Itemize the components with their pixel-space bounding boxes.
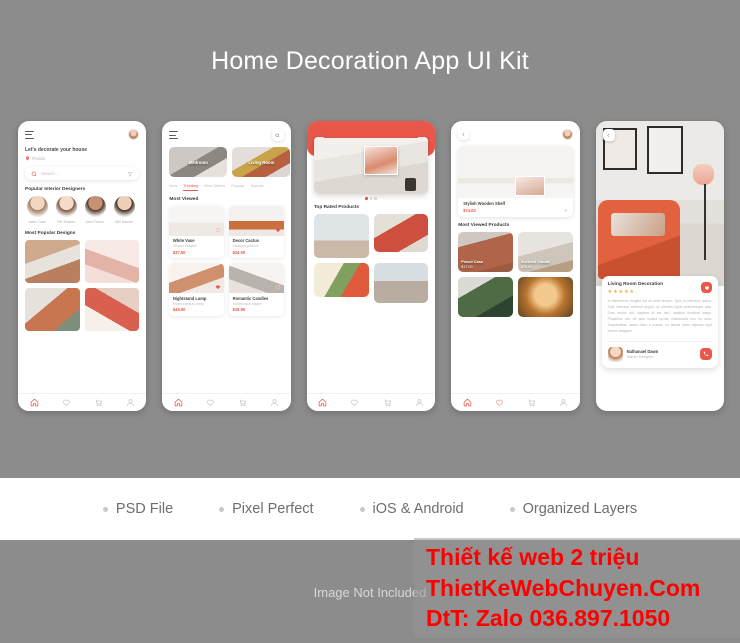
product-price: $29.90 [521,265,532,269]
heart-icon[interactable] [215,227,221,233]
product-card[interactable]: Romantic Candles Scelerisque sapien $18.… [229,263,284,316]
product-price: $18.90 [233,307,281,312]
cart-icon[interactable] [94,398,103,407]
cart-icon[interactable] [383,398,392,407]
screen1-topbar [18,121,146,140]
feature-strip: PSD File Pixel Perfect iOS & Android Org… [0,478,740,540]
person-icon[interactable] [559,398,568,407]
bullet-icon [510,507,515,512]
bullet-icon [219,507,224,512]
designer-avatar [114,196,135,217]
product-name: Romantic Candles [233,296,281,301]
product-card[interactable]: Decor Cactus Vivamus pretium $24.00 [229,206,284,259]
rating-stars: ★★★★★ [608,289,663,295]
product-desc: Scelerisque sapien [233,302,281,306]
feature-label: PSD File [116,501,173,517]
feature-label: Organized Layers [523,501,637,517]
bottom-nav[interactable] [162,393,290,411]
page-title: Home Decoration App UI Kit [0,47,740,76]
heart-icon[interactable] [495,398,504,407]
heart-icon[interactable] [206,398,215,407]
feature-label: iOS & Android [373,501,464,517]
location-row[interactable]: Florida [18,153,146,161]
call-button[interactable] [700,348,712,360]
product-image [229,206,284,236]
product-desc: Vivamus pretium [233,244,281,248]
feature-label: Pixel Perfect [232,501,313,517]
featured-product-card[interactable]: Stylish Wooden Shelf $74.00 [458,146,572,217]
back-arrow-icon [461,132,466,137]
search-placeholder: Search... [41,171,58,176]
tab-trending[interactable]: Trending [183,183,198,191]
user-avatar[interactable] [562,129,573,140]
product-price: $45.00 [173,307,221,312]
popular-designs-grid [18,236,146,331]
watermark-line-3: DtT: Zalo 036.897.1050 [426,603,732,634]
product-tile[interactable] [518,277,573,317]
designers-section-title: Popular Interior Designers [18,180,146,192]
product-price: $17.00 [461,265,472,269]
feature-item: iOS & Android [360,501,464,517]
back-button[interactable] [458,129,469,140]
product-name: Nightstand Lamp [173,296,221,301]
like-button[interactable] [701,282,712,293]
feature-item: Organized Layers [510,501,637,517]
screen2-topbar [162,121,290,141]
back-button[interactable] [603,129,615,141]
category-label: Living Room [232,147,290,177]
home-icon[interactable] [174,398,183,407]
filter-icon[interactable] [127,171,133,177]
product-name: Pencil Case [461,259,483,264]
arrow-right-icon[interactable] [563,208,568,213]
product-tile[interactable]: Pencil Case $17.00 [458,232,513,272]
detail-description: In elementum fringilla est sit amet temp… [608,299,712,335]
product-tile[interactable] [314,263,369,297]
product-tile-label: Scented Candle $29.90 [521,259,550,269]
screen-home-feed[interactable]: Home Top Rated Products [307,121,435,411]
designer-avatar [608,347,623,362]
designer-avatar [56,196,77,217]
category-card[interactable]: Bedroom [169,147,227,177]
cart-icon[interactable] [238,398,247,407]
design-card[interactable] [85,240,140,283]
product-tile[interactable]: Scented Candle $29.90 [518,232,573,272]
screen-detail-view[interactable]: Living Room Decoration ★★★★★ In elementu… [596,121,724,411]
back-arrow-icon [606,133,611,138]
product-card[interactable]: White Vase Aliquet sodales $37.50 [169,206,224,259]
most-viewed-title: Most Viewed [162,191,290,202]
heart-icon[interactable] [350,398,359,407]
ui-kit-canvas: Home Decoration App UI Kit Let's decorat… [0,0,740,643]
detail-title: Living Room Decoration [608,282,663,287]
heart-icon[interactable] [215,284,221,290]
person-icon[interactable] [126,398,135,407]
hamburger-icon[interactable] [169,131,178,139]
designer-item[interactable]: Justin Case [25,196,49,224]
popular-section-title: Most Popular Designs [18,224,146,236]
designer-avatar [85,196,106,217]
screen-category-browse[interactable]: Bedroom Living Room New Trending Best Se… [162,121,290,411]
heart-icon[interactable] [62,398,71,407]
tab-new[interactable]: New [169,183,177,191]
user-avatar[interactable] [128,129,139,140]
phone-icon [703,351,709,357]
designer-row[interactable]: Nathanael Dawn Interior Designer [608,341,712,362]
design-card[interactable] [25,288,80,331]
person-icon[interactable] [270,398,279,407]
person-icon[interactable] [415,398,424,407]
search-icon [275,133,280,138]
search-button[interactable] [272,129,284,141]
category-carousel[interactable]: Bedroom Living Room [162,141,290,177]
product-price: $37.50 [173,250,221,255]
heart-icon [704,285,710,291]
location-label: Florida [32,156,45,161]
watermark-overlay: Thiết kế web 2 triệu ThietKeWebChuyen.Co… [414,538,740,638]
product-image [169,206,224,236]
product-tile[interactable] [314,214,369,258]
watermark-line-2: ThietKeWebChuyen.Com [426,573,732,604]
product-tile-label: Pencil Case $17.00 [461,259,483,269]
featured-product-image [458,146,572,198]
top-rated-grid [307,210,435,303]
cart-icon[interactable] [527,398,536,407]
designer-item[interactable]: Alan Fresco [83,196,107,224]
product-image [229,263,284,293]
watermark-line-1: Thiết kế web 2 triệu [426,542,732,573]
product-desc: Etiam egestas lamp [173,302,221,306]
detail-info-card: Living Room Decoration ★★★★★ In elementu… [602,276,718,368]
category-card[interactable]: Living Room [232,147,290,177]
home-icon[interactable] [30,398,39,407]
designers-list: Justin Case Piff Jenkins Alan Fresco Wil… [18,192,146,224]
home-icon[interactable] [318,398,327,407]
hero-carousel[interactable] [314,138,428,194]
feature-item: Pixel Perfect [219,501,313,517]
phone-mockups-row: Let's decorate your house Florida Search… [18,121,724,411]
hero-decor-object [405,178,415,190]
search-input[interactable]: Search... [25,167,139,180]
screen-home-search[interactable]: Let's decorate your house Florida Search… [18,121,146,411]
designer-name: Nathanael Dawn [627,349,659,354]
product-tile[interactable] [458,277,513,317]
screen4-topbar [451,121,579,140]
home-icon[interactable] [463,398,472,407]
hero-artwork [364,146,398,175]
product-tile[interactable] [374,214,429,252]
heart-icon[interactable] [275,284,281,290]
designer-role: Interior Designer [627,355,659,359]
feature-item: PSD File [103,501,173,517]
most-viewed-products-title: Most Viewed Products [451,217,579,228]
bottom-nav[interactable] [307,393,435,411]
product-image [169,263,224,293]
designer-item[interactable]: Will Barrow [112,196,136,224]
search-icon [31,171,37,177]
product-name: Scented Candle [521,259,550,264]
most-viewed-grid: Pencil Case $17.00 Scented Candle $29.90 [451,228,579,317]
product-price: $24.00 [233,250,281,255]
top-rated-title: Top Rated Products [307,200,435,210]
product-name: Decor Cactus [233,238,281,243]
bullet-icon [360,507,365,512]
product-card[interactable]: Nightstand Lamp Etiam egestas lamp $45.0… [169,263,224,316]
category-label: Bedroom [169,147,227,177]
designer-avatar [27,196,48,217]
design-card[interactable] [25,240,80,283]
detail-hero-image [596,121,724,286]
product-desc: Aliquet sodales [173,244,221,248]
screen-product-listing[interactable]: Stylish Wooden Shelf $74.00 Most Viewed … [451,121,579,411]
tab-popular[interactable]: Popular [231,183,244,191]
bottom-nav[interactable] [451,393,579,411]
featured-product-name: Stylish Wooden Shelf [463,201,505,206]
featured-product-price: $74.00 [463,208,505,213]
hamburger-icon[interactable] [25,131,34,139]
greeting-text: Let's decorate your house [18,140,146,153]
bullet-icon [103,507,108,512]
designer-item[interactable]: Piff Jenkins [54,196,78,224]
product-name: White Vase [173,238,221,243]
tab-special[interactable]: Special [251,183,264,191]
bottom-nav[interactable] [18,393,146,411]
filter-tabs[interactable]: New Trending Best Sellers Popular Specia… [162,177,290,191]
heart-icon[interactable] [275,227,281,233]
tab-best-sellers[interactable]: Best Sellers [204,183,225,191]
product-grid: White Vase Aliquet sodales $37.50 Decor … [162,202,290,316]
product-tile[interactable] [374,263,429,303]
design-card[interactable] [85,288,140,331]
map-pin-icon [25,156,30,161]
